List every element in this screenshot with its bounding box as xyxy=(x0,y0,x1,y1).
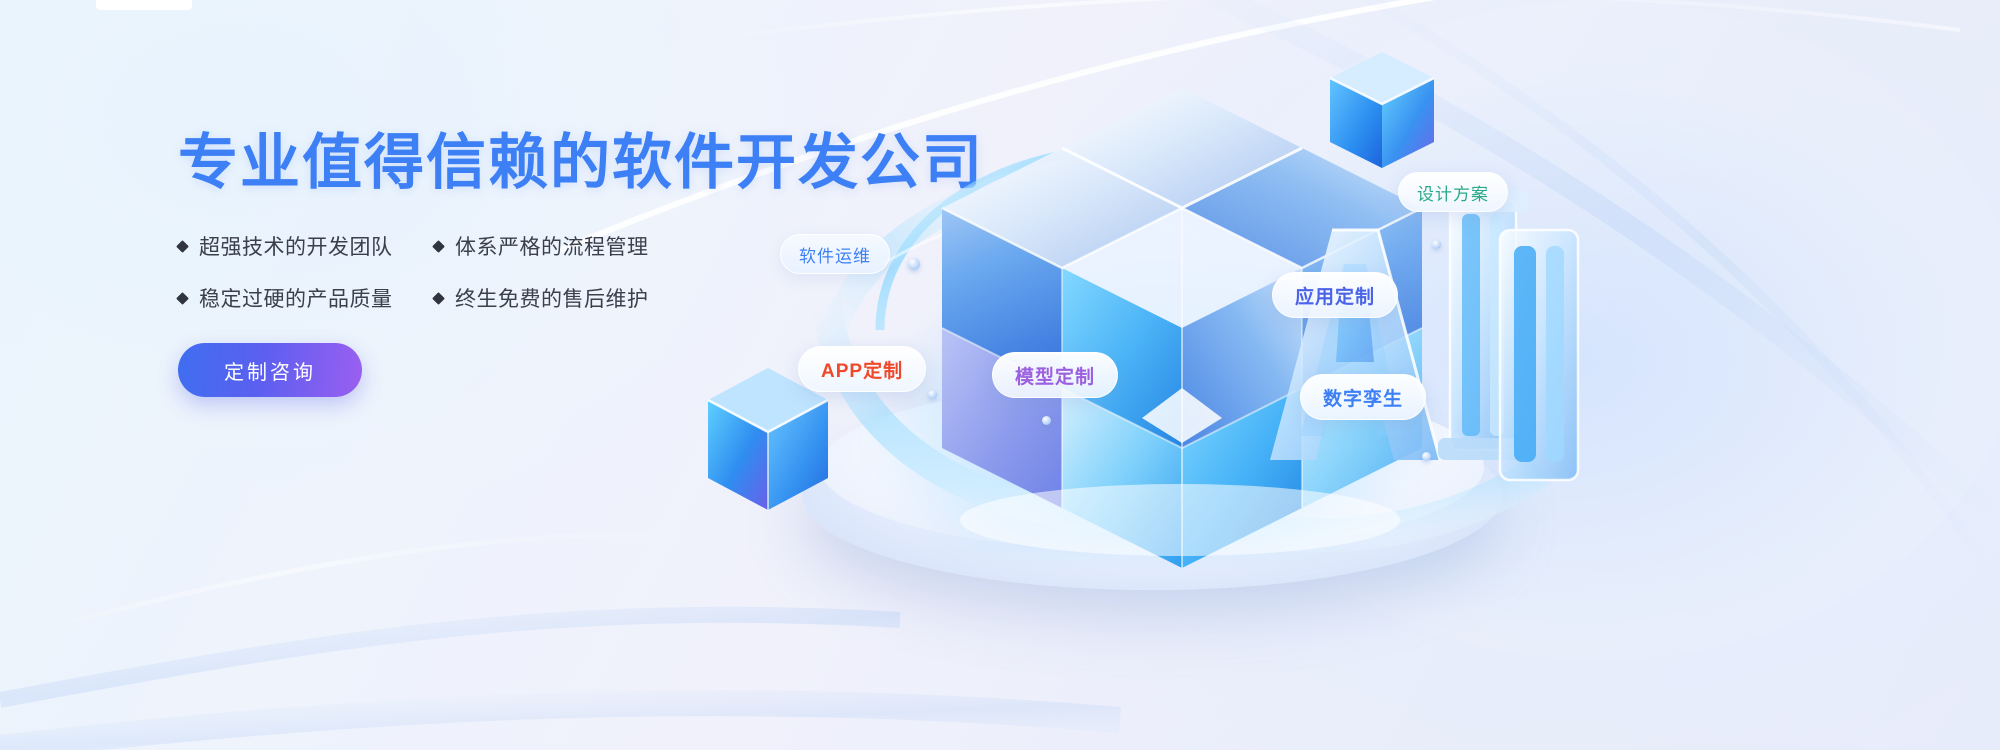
tag-digital-twin[interactable]: 数字孪生 xyxy=(1300,374,1426,420)
connector-node xyxy=(1042,416,1051,425)
list-item: 体系严格的流程管理 xyxy=(434,231,649,261)
tag-design-plan[interactable]: 设计方案 xyxy=(1398,172,1508,212)
hero-illustration: 软件运维 设计方案 APP定制 应用定制 模型定制 数字孪生 xyxy=(680,0,2000,750)
tag-app-custom[interactable]: APP定制 xyxy=(798,346,926,392)
hero-banner: 专业值得信赖的软件开发公司 超强技术的开发团队 体系严格的流程管理 稳定过硬的产… xyxy=(0,0,2000,750)
connector-node xyxy=(908,258,920,270)
tag-app-customization[interactable]: 应用定制 xyxy=(1272,272,1398,318)
tag-software-ops[interactable]: 软件运维 xyxy=(780,234,890,274)
custom-consult-button[interactable]: 定制咨询 xyxy=(178,343,362,397)
feature-row: 稳定过硬的产品质量 终生免费的售后维护 xyxy=(178,283,698,313)
list-item-label: 终生免费的售后维护 xyxy=(455,283,649,313)
diamond-bullet-icon xyxy=(432,292,445,305)
connector-node xyxy=(1432,240,1441,249)
connector-node xyxy=(928,390,937,399)
diamond-bullet-icon xyxy=(176,240,189,253)
connector-node xyxy=(1422,452,1431,461)
list-item-label: 超强技术的开发团队 xyxy=(199,231,393,261)
list-item: 稳定过硬的产品质量 xyxy=(178,283,434,313)
diamond-bullet-icon xyxy=(176,292,189,305)
list-item-label: 稳定过硬的产品质量 xyxy=(199,283,393,313)
list-item: 超强技术的开发团队 xyxy=(178,231,434,261)
list-item-label: 体系严格的流程管理 xyxy=(455,231,649,261)
list-item: 终生免费的售后维护 xyxy=(434,283,649,313)
feature-row: 超强技术的开发团队 体系严格的流程管理 xyxy=(178,231,698,261)
feature-list: 超强技术的开发团队 体系严格的流程管理 稳定过硬的产品质量 终生免费的售后维护 xyxy=(178,231,698,313)
tag-model-custom[interactable]: 模型定制 xyxy=(992,352,1118,398)
diamond-bullet-icon xyxy=(432,240,445,253)
